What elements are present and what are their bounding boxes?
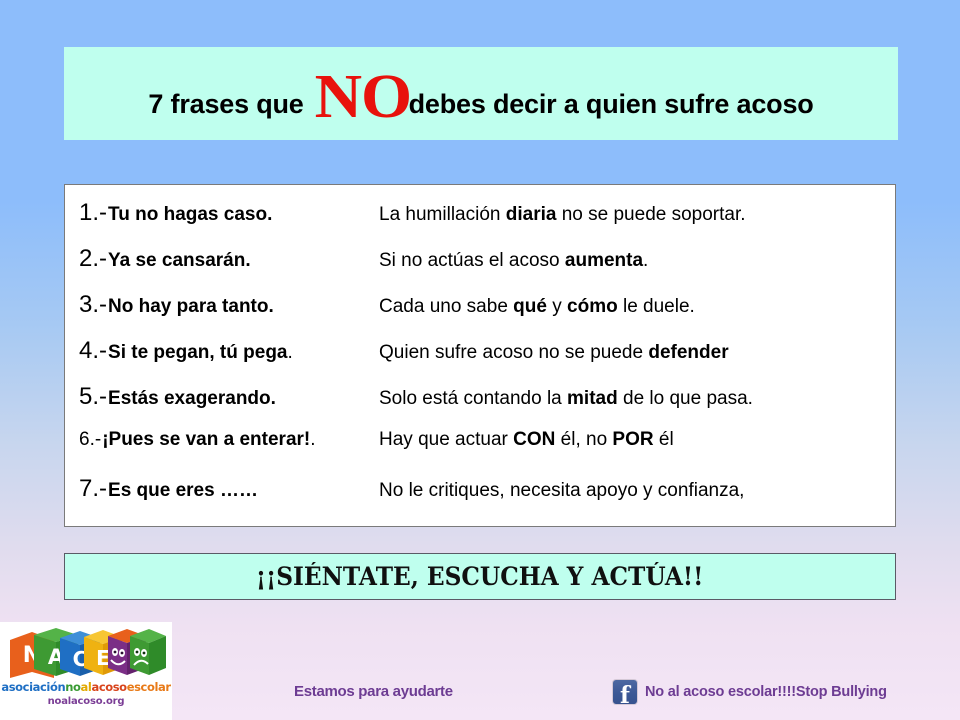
explanation-pre: Hay que actuar	[379, 429, 513, 450]
explanation-pre: Si no actúas el acoso	[379, 250, 565, 271]
explanation-bold: mitad	[567, 388, 618, 409]
list-item-number: 2.-	[79, 245, 107, 273]
list-item-explanation: No le critiques, necesita apoyo y confia…	[379, 480, 744, 502]
facebook-f-glyph: f	[613, 684, 637, 707]
list-item-phrase-group: 1.- Tu no hagas caso.	[79, 199, 379, 227]
list-item: 2.- Ya se cansarán. Si no actúas el acos…	[65, 245, 895, 291]
list-item-explanation: Hay que actuar CON él, no POR él	[379, 429, 674, 451]
explanation-pre: No le critiques, necesita apoyo y confia…	[379, 480, 744, 501]
explanation-post: no se puede soportar.	[556, 204, 745, 225]
explanation-post: de lo que pasa.	[618, 388, 753, 409]
list-item-explanation: Cada uno sabe qué y cómo le duele.	[379, 296, 695, 318]
list-item-number: 1.-	[79, 199, 107, 227]
facebook-group[interactable]: f No al acoso escolar!!!!Stop Bullying	[613, 680, 887, 704]
list-item-phrase-group: 3.- No hay para tanto.	[79, 291, 379, 319]
page-title: 7 frases que NO debes decir a quien sufr…	[148, 69, 813, 119]
list-item-phrase: Estás exagerando.	[108, 388, 276, 410]
slide-canvas: 7 frases que NO debes decir a quien sufr…	[0, 0, 960, 720]
title-banner: 7 frases que NO debes decir a quien sufr…	[64, 47, 898, 140]
list-item-phrase-group: 2.- Ya se cansarán.	[79, 245, 379, 273]
call-to-action-text: ¡¡SIÉNTATE, ESCUCHA Y ACTÚA!!	[256, 562, 704, 591]
wordmark-part-no: no	[65, 680, 80, 694]
list-item: 1.- Tu no hagas caso. La humillación dia…	[65, 199, 895, 245]
footer-help-text: Estamos para ayudarte	[294, 683, 453, 700]
wordmark-part-escolar: escolar	[127, 680, 171, 694]
list-item-phrase: Ya se cansarán.	[108, 250, 251, 272]
explanation-pre: La humillación	[379, 204, 506, 225]
explanation-bold: defender	[648, 342, 728, 363]
explanation-mid: él, no	[555, 429, 612, 450]
list-item-explanation: La humillación diaria no se puede soport…	[379, 204, 746, 226]
list-item: 3.- No hay para tanto. Cada uno sabe qué…	[65, 291, 895, 337]
nace-logo-wordmark: asociaciónnoalacosoescolar	[0, 680, 172, 694]
list-item: 5.- Estás exagerando. Solo está contando…	[65, 383, 895, 429]
explanation-post: le duele.	[618, 296, 695, 317]
list-item-phrase: ¡Pues se van a enterar!.	[102, 429, 315, 451]
explanation-post: .	[643, 250, 648, 271]
explanation-bold: diaria	[506, 204, 557, 225]
explanation-bold: qué	[513, 296, 547, 317]
explanation-bold-2: cómo	[567, 296, 618, 317]
list-item-phrase-group: 5.- Estás exagerando.	[79, 383, 379, 411]
list-item-number: 7.-	[79, 475, 107, 503]
list-item: 4.- Si te pegan, tú pega. Quien sufre ac…	[65, 337, 895, 383]
explanation-post: él	[654, 429, 674, 450]
phrase-bold: ¡Pues se van a enterar!	[102, 429, 310, 450]
nace-logo-card: N A C E	[0, 622, 172, 720]
list-item-phrase: Es que eres ……	[108, 480, 258, 502]
explanation-bold: CON	[513, 429, 555, 450]
nace-cubes-icon: N A C E	[8, 628, 168, 680]
list-item-phrase-group: 4.- Si te pegan, tú pega.	[79, 337, 379, 365]
list-item-number: 4.-	[79, 337, 107, 365]
explanation-pre: Solo está contando la	[379, 388, 567, 409]
explanation-bold: aumenta	[565, 250, 643, 271]
title-text-after: debes decir a quien sufre acoso	[409, 91, 814, 118]
explanation-pre: Cada uno sabe	[379, 296, 513, 317]
facebook-page-text[interactable]: No al acoso escolar!!!!Stop Bullying	[645, 684, 887, 700]
explanation-pre: Quien sufre acoso no se puede	[379, 342, 648, 363]
list-item-number: 3.-	[79, 291, 107, 319]
list-item-number: 5.-	[79, 383, 107, 411]
list-item-phrase-group: 7.- Es que eres ……	[79, 475, 379, 503]
svg-text:E: E	[96, 646, 110, 670]
list-item-number: 6.-	[79, 429, 101, 451]
list-item: 7.- Es que eres …… No le critiques, nece…	[65, 475, 895, 521]
list-item-phrase: Si te pegan, tú pega.	[108, 342, 293, 364]
wordmark-part-acoso: acoso	[91, 680, 126, 694]
list-item-phrase-group: 6.- ¡Pues se van a enterar!.	[79, 429, 379, 451]
list-item-explanation: Solo está contando la mitad de lo que pa…	[379, 388, 753, 410]
list-item-explanation: Quien sufre acoso no se puede defender	[379, 342, 729, 364]
nace-logo-url: noalacoso.org	[0, 696, 172, 707]
list-item: 6.- ¡Pues se van a enterar!. Hay que act…	[65, 429, 895, 475]
list-item-explanation: Si no actúas el acoso aumenta.	[379, 250, 648, 272]
explanation-mid: y	[547, 296, 567, 317]
list-item-phrase: Tu no hagas caso.	[108, 204, 272, 226]
phrase-bold: Si te pegan, tú pega	[108, 342, 287, 363]
wordmark-part-asociacion: asociación	[1, 680, 65, 694]
explanation-bold-2: POR	[612, 429, 653, 450]
phrase-tail: .	[288, 342, 293, 363]
facebook-icon[interactable]: f	[613, 680, 637, 704]
call-to-action-banner: ¡¡SIÉNTATE, ESCUCHA Y ACTÚA!!	[64, 553, 896, 600]
title-emphasis-no: NO	[304, 73, 415, 123]
title-text-before: 7 frases que	[148, 91, 303, 118]
list-item-phrase: No hay para tanto.	[108, 296, 274, 318]
phrase-tail: .	[310, 429, 315, 450]
phrases-list-box: 1.- Tu no hagas caso. La humillación dia…	[64, 184, 896, 527]
wordmark-part-al: al	[81, 680, 92, 694]
